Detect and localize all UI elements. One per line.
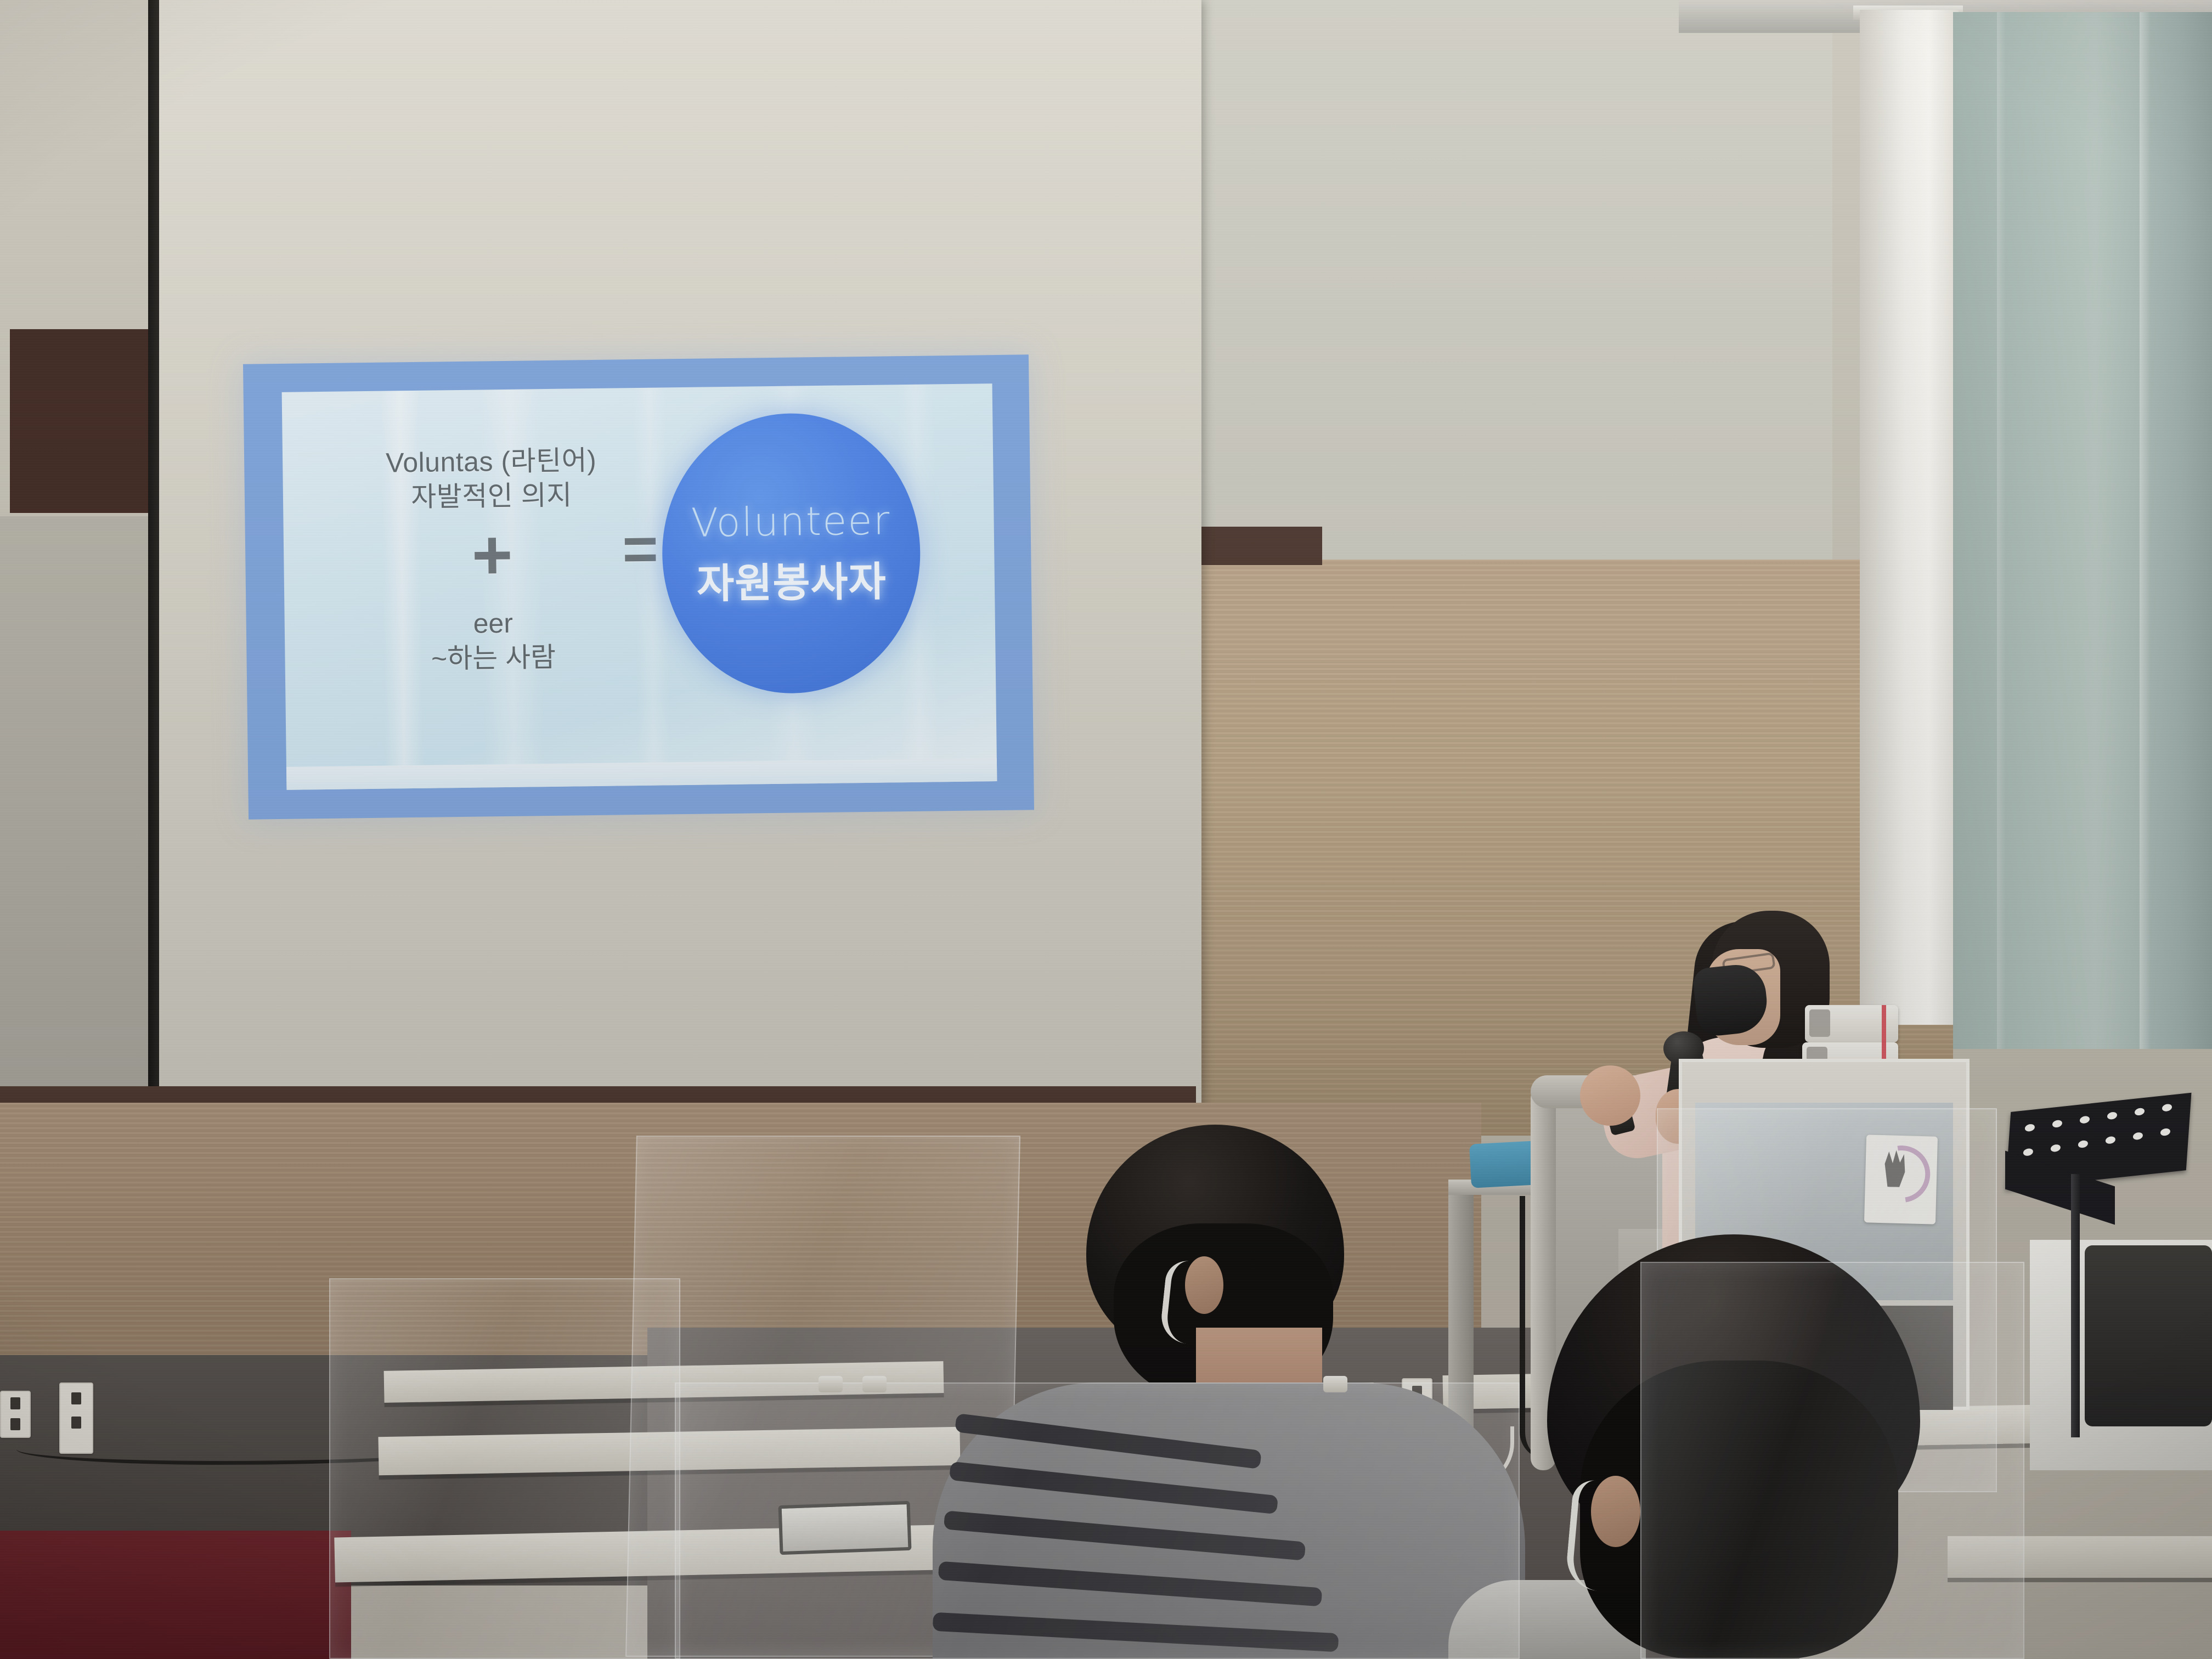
projected-slide: Voluntas (라틴어) 자발적인 의지 + = eer ~하는 사람 Vo…: [243, 354, 1034, 819]
acrylic-divider: [1640, 1262, 2024, 1659]
face-mask-strap-icon: [1565, 1479, 1640, 1594]
classroom-photo: Voluntas (라틴어) 자발적인 의지 + = eer ~하는 사람 Vo…: [0, 0, 2212, 1659]
curtain-fold: [1997, 12, 2006, 1049]
floor-accent-red: [0, 1531, 351, 1659]
acrylic-divider: [675, 1383, 1520, 1659]
curtain-fold: [2140, 12, 2151, 1049]
dark-equipment-right: [2085, 1245, 2212, 1426]
stacked-package: [1805, 1005, 1898, 1042]
acrylic-divider: [329, 1278, 680, 1659]
whiteboard-header-left: [10, 329, 165, 521]
brown-trim-right: [1185, 527, 1322, 565]
slide-term-voluntas-line2: 자발적인 의지: [349, 477, 635, 515]
slide-term-voluntas-line1: Voluntas (라틴어): [348, 443, 634, 481]
slide-result-circle: Volunteer 자원봉사자: [661, 412, 922, 695]
slide-result-korean: 자원봉사자: [697, 549, 887, 610]
music-stand-pole: [2071, 1174, 2080, 1437]
window-curtain: [1953, 12, 2212, 1049]
slide-term-voluntas: Voluntas (라틴어) 자발적인 의지: [348, 443, 635, 515]
slide-term-eer-line2: ~하는 사람: [351, 639, 636, 677]
slide-plus-symbol: +: [448, 520, 537, 591]
sheer-curtain: [1860, 10, 1959, 1025]
slide-term-eer-line1: eer: [350, 605, 636, 642]
slide-canvas: Voluntas (라틴어) 자발적인 의지 + = eer ~하는 사람 Vo…: [282, 383, 997, 790]
whiteboard-panel-left: [0, 513, 165, 1094]
slide-term-eer: eer ~하는 사람: [350, 605, 636, 677]
slide-result-english: Volunteer: [691, 497, 890, 545]
presenter-hand: [1580, 1065, 1640, 1126]
